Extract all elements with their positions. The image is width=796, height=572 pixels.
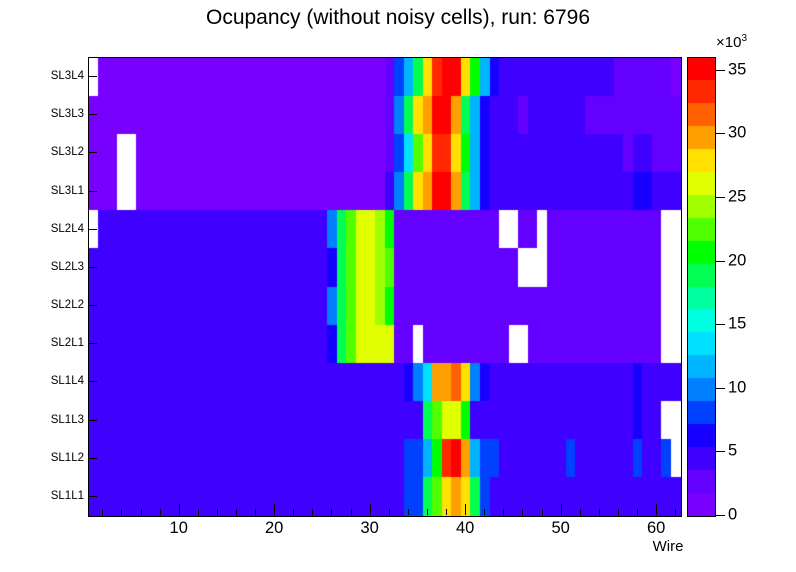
- y-axis-tick-label: SL1L3: [51, 414, 84, 426]
- x-axis-minor-tick: [236, 509, 237, 515]
- y-axis-tick: [88, 152, 97, 153]
- x-axis-major-tick: [274, 504, 275, 515]
- colorbar-tick-label: 30: [728, 124, 746, 143]
- colorbar-tick-label: 10: [728, 378, 746, 397]
- x-axis-tick-label: 50: [551, 519, 569, 538]
- colorbar-tick: [715, 388, 725, 389]
- colorbar-multiplier: ×103: [716, 33, 747, 51]
- y-axis-tick: [88, 458, 97, 459]
- x-axis-major-tick: [561, 504, 562, 515]
- x-axis-minor-tick: [637, 509, 638, 515]
- colorbar-tick-label: 15: [728, 315, 746, 334]
- y-axis-tick-label: SL2L3: [51, 261, 84, 273]
- colorbar-tick: [715, 515, 725, 516]
- x-axis-tick-label: 10: [170, 519, 188, 538]
- x-axis-minor-tick: [522, 509, 523, 515]
- colorbar-tick: [715, 133, 725, 134]
- x-axis-minor-tick: [312, 509, 313, 515]
- x-axis-minor-tick: [484, 509, 485, 515]
- y-axis-tick-label: SL3L2: [51, 146, 84, 158]
- x-axis-minor-tick: [408, 509, 409, 515]
- x-axis-minor-tick: [255, 509, 256, 515]
- y-axis-tick: [88, 420, 97, 421]
- y-axis-tick: [88, 229, 97, 230]
- x-axis-major-tick: [465, 504, 466, 515]
- colorbar-tick-label: 35: [728, 60, 746, 79]
- colorbar-tick-label: 25: [728, 187, 746, 206]
- x-axis-minor-tick: [198, 509, 199, 515]
- colorbar-tick: [715, 324, 725, 325]
- x-axis-minor-tick: [542, 509, 543, 515]
- colorbar-tick: [715, 70, 725, 71]
- x-axis-major-tick: [179, 504, 180, 515]
- x-axis-minor-tick: [331, 509, 332, 515]
- x-axis-minor-tick: [293, 509, 294, 515]
- x-axis-minor-tick: [618, 509, 619, 515]
- colorbar-tick-label: 20: [728, 251, 746, 270]
- x-axis-minor-tick: [503, 509, 504, 515]
- y-axis-tick-label: SL3L3: [51, 108, 84, 120]
- colorbar-tick-label: 5: [728, 442, 737, 461]
- x-axis-minor-tick: [427, 509, 428, 515]
- y-axis-tick-label: SL3L1: [51, 185, 84, 197]
- x-axis-minor-tick: [580, 509, 581, 515]
- colorbar-gradient: [688, 58, 715, 516]
- x-axis-major-tick: [370, 504, 371, 515]
- y-axis-tick: [88, 343, 97, 344]
- y-axis-tick: [88, 267, 97, 268]
- y-axis-tick-label: SL3L4: [51, 70, 84, 82]
- y-axis-tick: [88, 381, 97, 382]
- heatmap-cells: [89, 58, 681, 516]
- x-axis-tick-label: 60: [647, 519, 665, 538]
- colorbar-tick: [715, 197, 725, 198]
- y-axis-tick-label: SL2L4: [51, 223, 84, 235]
- x-axis-tick-label: 20: [265, 519, 283, 538]
- x-axis-minor-tick: [160, 509, 161, 515]
- x-axis-minor-tick: [351, 509, 352, 515]
- y-axis-tick: [88, 496, 97, 497]
- x-axis-minor-tick: [446, 509, 447, 515]
- y-axis-tick: [88, 114, 97, 115]
- y-axis-tick-label: SL1L1: [51, 490, 84, 502]
- x-axis-minor-tick: [599, 509, 600, 515]
- x-axis-minor-tick: [389, 509, 390, 515]
- y-axis-tick-label: SL1L4: [51, 375, 84, 387]
- x-axis-title: Wire: [653, 538, 684, 555]
- y-axis-tick: [88, 305, 97, 306]
- x-axis-tick-label: 30: [360, 519, 378, 538]
- x-axis-minor-tick: [675, 509, 676, 515]
- chart-canvas: Ocupancy (without noisy cells), run: 679…: [0, 0, 796, 572]
- y-axis-labels: SL3L4SL3L3SL3L2SL3L1SL2L4SL2L3SL2L2SL2L1…: [0, 0, 84, 572]
- colorbar: [687, 57, 716, 517]
- x-axis-tick-label: 40: [456, 519, 474, 538]
- x-axis-minor-tick: [121, 509, 122, 515]
- y-axis-tick: [88, 191, 97, 192]
- y-axis-tick: [88, 76, 97, 77]
- colorbar-tick: [715, 451, 725, 452]
- x-axis-minor-tick: [102, 509, 103, 515]
- heatmap-plot-area[interactable]: [88, 57, 682, 517]
- colorbar-tick-label: 0: [728, 506, 737, 525]
- y-axis-tick-label: SL2L2: [51, 299, 84, 311]
- colorbar-tick: [715, 261, 725, 262]
- y-axis-tick-label: SL2L1: [51, 337, 84, 349]
- x-axis-minor-tick: [217, 509, 218, 515]
- chart-title: Ocupancy (without noisy cells), run: 679…: [0, 6, 796, 30]
- y-axis-tick-label: SL1L2: [51, 452, 84, 464]
- x-axis-minor-tick: [141, 509, 142, 515]
- x-axis-major-tick: [656, 504, 657, 515]
